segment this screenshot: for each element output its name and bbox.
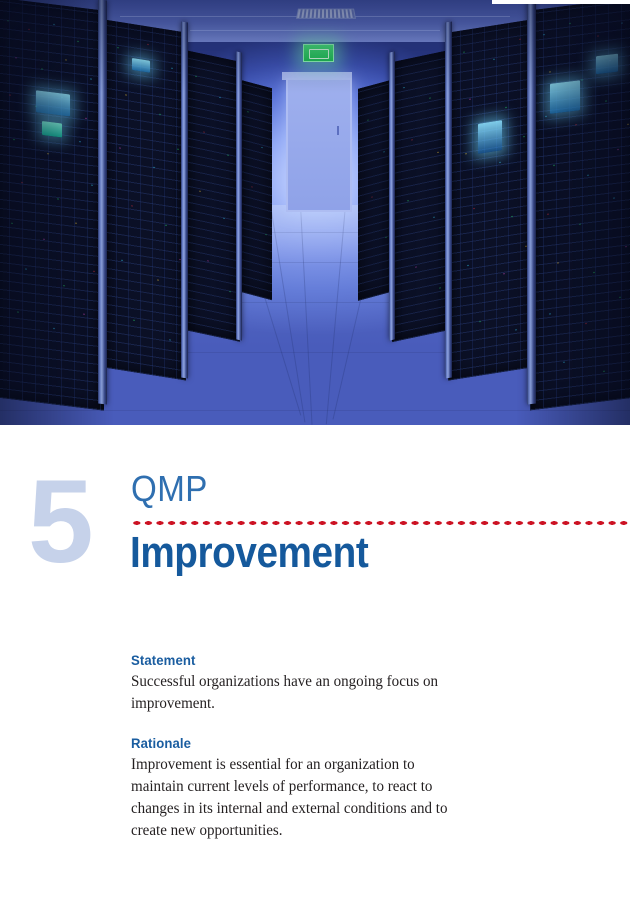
rack-led-array	[392, 50, 450, 342]
door	[286, 78, 352, 212]
rack-led-array	[240, 80, 272, 301]
top-right-white-strip	[492, 0, 630, 4]
eyebrow-label: QMP	[131, 471, 208, 507]
server-rack	[392, 50, 450, 342]
rack-led-array	[186, 50, 240, 341]
ceiling-vent-icon	[296, 9, 356, 19]
rack-pillar	[236, 51, 242, 340]
rationale-label: Rationale	[131, 735, 460, 751]
ceiling-seam	[190, 30, 440, 31]
rationale-text: Improvement is essential for an organiza…	[131, 754, 466, 842]
hero-image	[0, 0, 630, 425]
rack-led-array	[0, 0, 104, 411]
rack-status-panel	[478, 120, 502, 154]
server-rack	[186, 50, 240, 341]
section-spacer	[131, 715, 481, 735]
server-rack	[104, 20, 186, 381]
server-rack	[0, 0, 104, 411]
page-title: Improvement	[130, 531, 368, 575]
rack-status-panel	[36, 90, 70, 116]
statement-text: Successful organizations have an ongoing…	[131, 671, 466, 715]
rack-pillar	[181, 21, 188, 378]
dotted-rule	[131, 520, 630, 526]
exit-sign-icon	[303, 44, 334, 62]
rack-led-array	[448, 19, 532, 380]
content-body: Statement Successful organizations have …	[131, 652, 481, 842]
server-rack	[448, 19, 532, 380]
rack-pillar	[527, 0, 536, 405]
rack-pillar	[445, 21, 452, 378]
statement-label: Statement	[131, 652, 460, 668]
rack-status-panel	[42, 121, 62, 137]
principle-number: 5	[28, 463, 92, 581]
door-handle	[337, 126, 339, 135]
rack-status-panel	[596, 54, 618, 75]
server-rack	[530, 0, 630, 410]
rack-pillar	[98, 0, 107, 405]
server-rack	[240, 80, 272, 301]
data-center-corridor-photo	[0, 0, 630, 425]
rack-pillar	[389, 51, 395, 340]
rack-led-array	[104, 20, 186, 381]
rack-status-panel	[550, 80, 580, 114]
